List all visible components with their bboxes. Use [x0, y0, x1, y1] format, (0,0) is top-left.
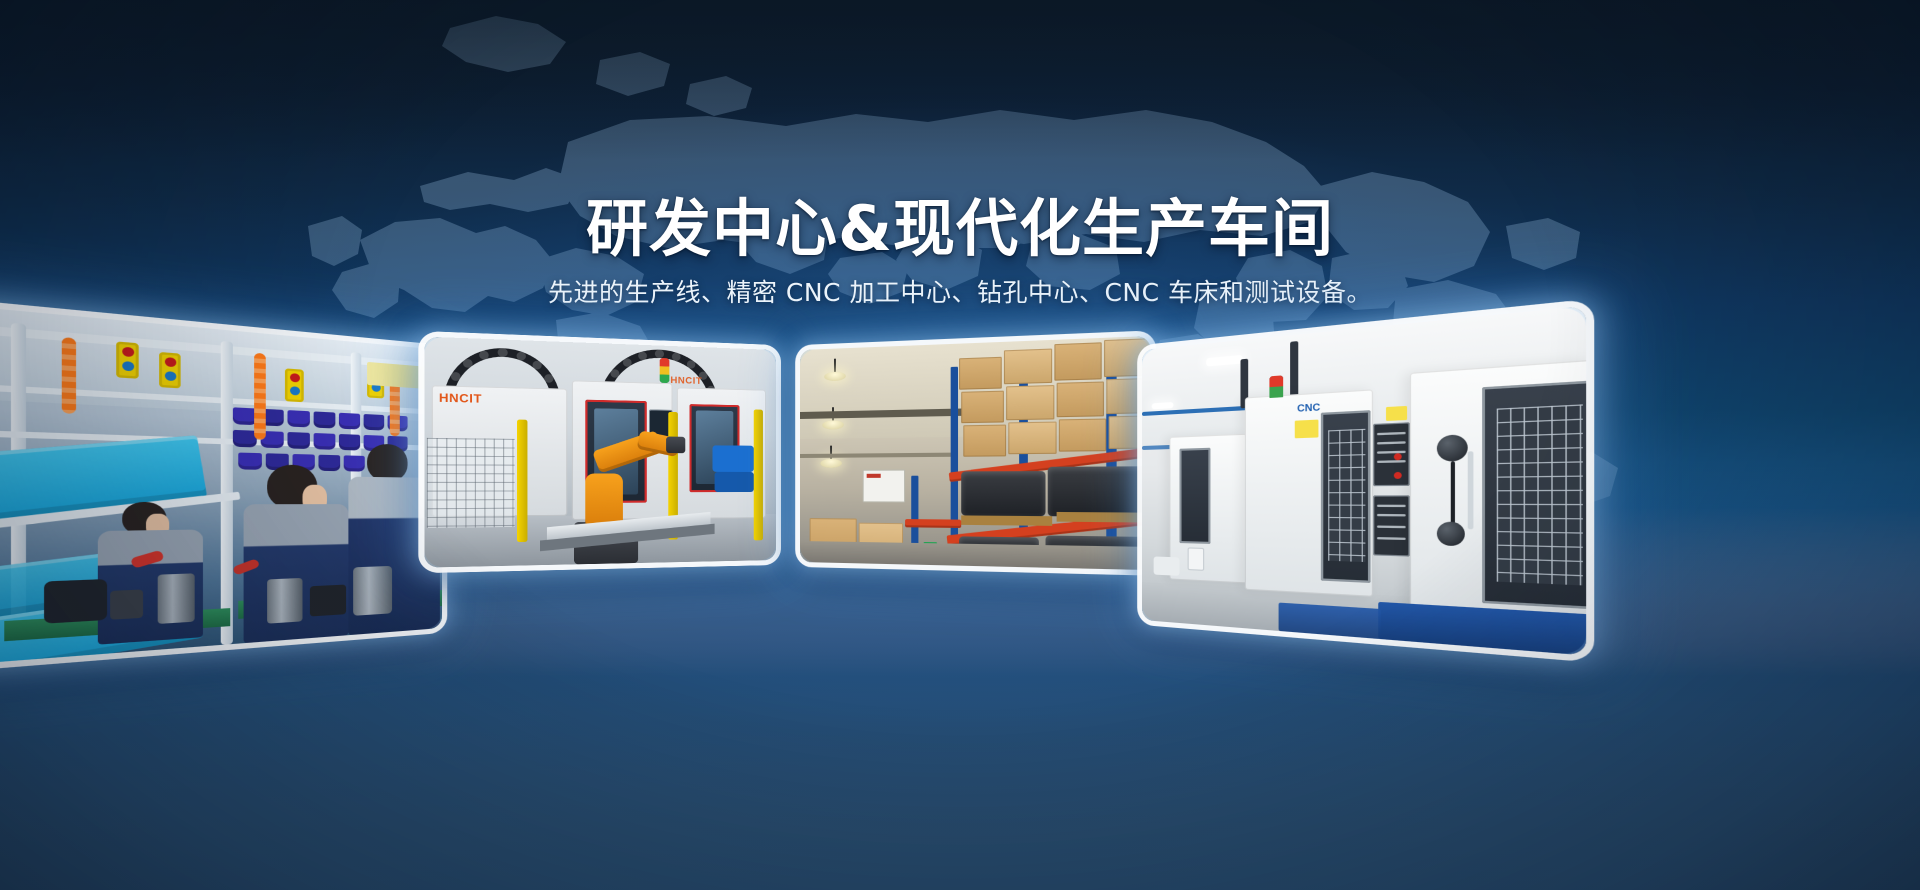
cnc-brand-label: HNCIT — [439, 392, 482, 406]
page-subtitle: 先进的生产线、精密 CNC 加工中心、钻孔中心、CNC 车床和测试设备。 — [0, 276, 1920, 310]
gallery-panel-cnc-machining[interactable]: HNCIT HNCIT — [424, 337, 776, 568]
photo-cnc-lathe: CNC — [1142, 306, 1586, 656]
gallery-panel-warehouse[interactable] — [800, 336, 1150, 570]
gallery-panel-assembly-line[interactable] — [0, 303, 442, 667]
photo-cnc-machining: HNCIT HNCIT — [424, 337, 776, 568]
gallery-panel-cnc-lathe[interactable]: CNC — [1142, 306, 1586, 656]
page-title: 研发中心&现代化生产车间 — [0, 196, 1920, 262]
hero-banner: 研发中心&现代化生产车间 先进的生产线、精密 CNC 加工中心、钻孔中心、CNC… — [0, 0, 1920, 890]
hero-headline: 研发中心&现代化生产车间 先进的生产线、精密 CNC 加工中心、钻孔中心、CNC… — [0, 196, 1920, 309]
photo-gallery: HNCIT HNCIT — [0, 350, 1920, 690]
photo-warehouse — [800, 336, 1150, 570]
photo-assembly-line — [0, 303, 442, 667]
